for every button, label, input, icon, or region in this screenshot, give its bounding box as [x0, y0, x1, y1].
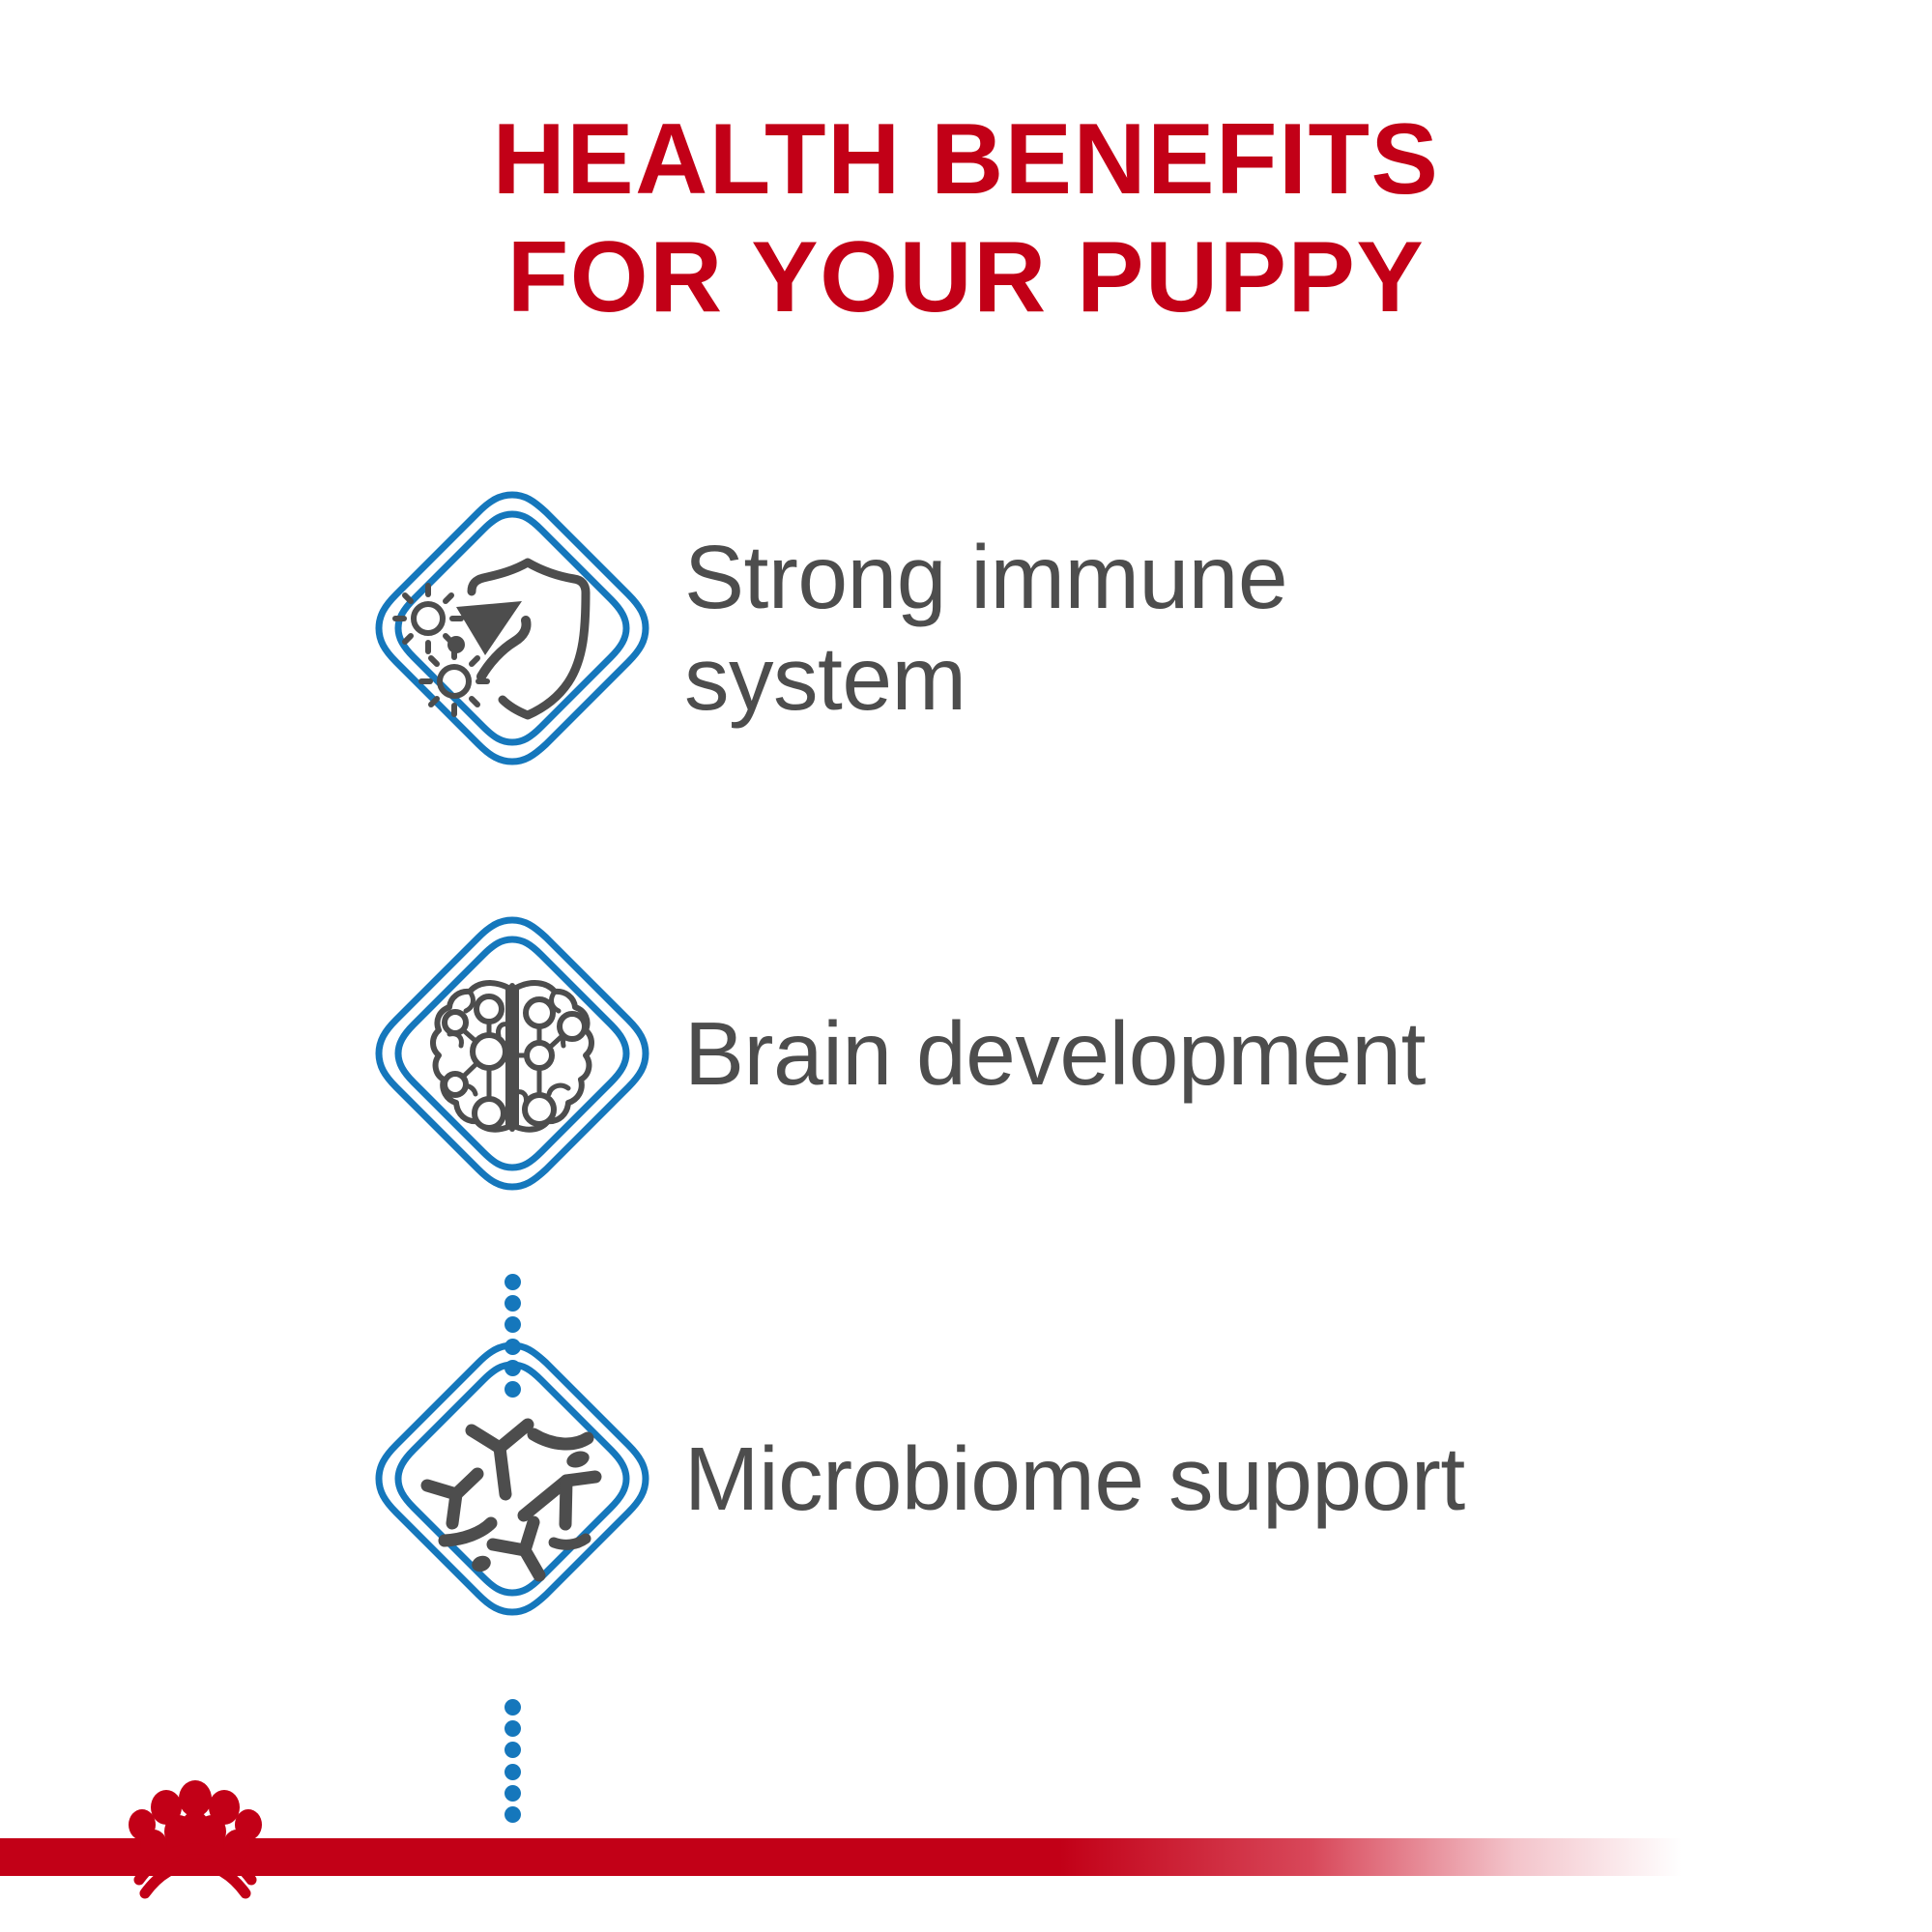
benefit-label-microbiome: Microbiome support — [684, 1428, 1875, 1530]
immune-shield-icon — [367, 483, 657, 773]
page-title: HEALTH BENEFITS FOR YOUR PUPPY — [0, 101, 1932, 336]
page-title-line-2: FOR YOUR PUPPY — [0, 218, 1932, 336]
connector-dot — [505, 1295, 521, 1312]
benefit-item-microbiome: Microbiome support — [367, 1324, 1875, 1633]
health-benefits-list: Strong immune system — [0, 474, 1932, 1662]
connector-dot — [505, 1274, 521, 1290]
benefit-item-brain: Brain development — [367, 899, 1875, 1208]
connector-dot — [505, 1699, 521, 1716]
benefit-label-immune: Strong immune system — [684, 527, 1875, 730]
benefit-item-immune: Strong immune system — [367, 474, 1875, 783]
brain-icon — [367, 908, 657, 1198]
connector-dot — [505, 1339, 521, 1355]
connector-dot — [505, 1360, 521, 1376]
brand-bar-stripe-left — [0, 1838, 137, 1876]
connector-dot — [505, 1720, 521, 1737]
royal-canin-crown-icon — [124, 1775, 267, 1899]
connector-dot — [505, 1742, 521, 1758]
connector-dot — [505, 1316, 521, 1333]
benefit-label-brain: Brain development — [684, 1003, 1875, 1105]
footer-brand-bar — [0, 1758, 1932, 1932]
connector-dot — [505, 1381, 521, 1398]
page-title-line-1: HEALTH BENEFITS — [0, 101, 1932, 218]
connector-dots-1 — [502, 1274, 523, 1398]
